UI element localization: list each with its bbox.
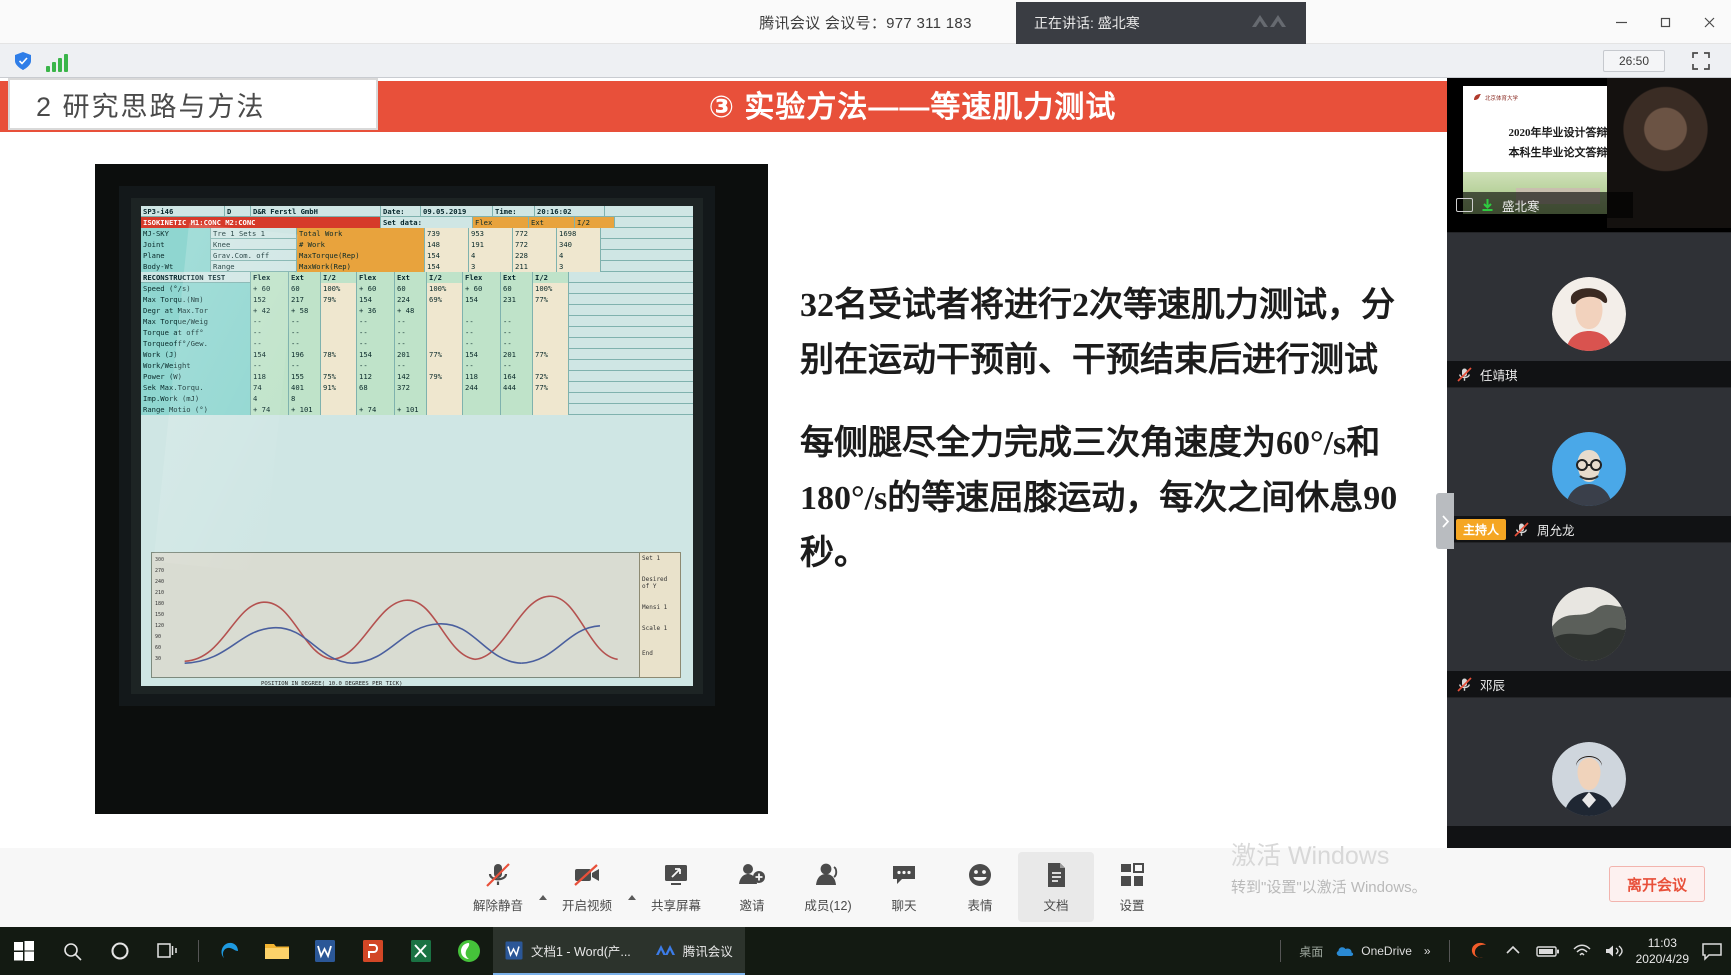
row-label-1: Plane [141,250,211,261]
toolbar-label: 邀请 [739,895,764,914]
date-value: 09.05.2019 [421,206,493,217]
param-row-cell: 8 [289,393,321,404]
result-v1-3: 154 [425,261,469,272]
result-name-2: MaxTorque(Rep) [297,250,425,261]
param-row-cell: 112 [357,371,395,382]
param-row-label: Degr at Max.Tor [141,305,251,316]
result-v3-3: 211 [513,261,557,272]
param-row-cell: 74 [251,382,289,393]
param-row-cell: -- [501,360,533,371]
time-label: Time: [493,206,535,217]
device-maker: D&R Ferstl GmbH [251,206,381,217]
param-row-cell: 60 [289,283,321,294]
participant-name-bar: 主持人 周允龙 [1447,516,1731,542]
taskbar-window-tencent-meeting[interactable]: 腾讯会议 [643,927,745,975]
param-row-cell: + 58 [289,305,321,316]
param-row-cell: 77% [427,349,463,360]
result-v1-2: 154 [425,250,469,261]
param-row-cell: 79% [321,294,357,305]
toolbar-settings-button[interactable]: 设置 [1094,852,1170,922]
windows-start-icon[interactable] [0,927,48,975]
param-row-cell: 118 [463,371,501,382]
tencent-meeting-icon [655,942,675,958]
param-row-cell: + 74 [357,404,395,415]
side-mensi: Mensi 1 [642,604,678,611]
param-row-label: Work/Weight [141,360,251,371]
param-row-cell [533,393,569,404]
toolbar-members-button[interactable]: 成员(12) [790,852,866,922]
param-row-cell [427,360,463,371]
onedrive-icon [1335,944,1355,958]
param-row: Degr at Max.Tor+ 42+ 58+ 36+ 48 [141,305,693,316]
file-explorer-icon[interactable] [253,927,301,975]
param-row-label: Power (W) [141,371,251,382]
param-row-cell: -- [251,327,289,338]
param-row-cell: 100% [321,283,357,294]
param-row-cell: -- [463,338,501,349]
time-value: 20:16:02 [535,206,605,217]
participant-tile-avatar[interactable]: 主持人 周允龙 [1447,388,1731,543]
mic-muted-icon [1456,676,1473,693]
slide-paragraph-1: 32名受试者将进行2次等速肌力测试，分别在运动干预前、干预结束后进行测试 [800,278,1400,388]
shared-slide: 2 研究思路与方法 ③ 实验方法——等速肌力测试 SP3-i46 D D&R F… [0,78,1447,848]
clock-date: 2020/4/29 [1636,951,1689,967]
param-row-cell: 60 [501,283,533,294]
param-row-cell: 154 [463,294,501,305]
param-row-cell: + 101 [395,404,427,415]
param-row-label: Range Motio (°) [141,404,251,415]
param-row-cell: 201 [395,349,427,360]
ph-flex-1: Flex [251,272,289,283]
ph-ext-2: Ext [395,272,427,283]
collapse-panel-button[interactable] [1436,493,1454,549]
onedrive-label: OneDrive [1361,944,1412,958]
system-tray: 桌面 OneDrive » 11:03 2020/4/29 [1274,927,1731,975]
participant-tile-avatar[interactable] [1447,698,1731,853]
clock-time: 11:03 [1636,935,1689,951]
row-label-2: Body-Wt [141,261,211,272]
param-row-cell: 154 [357,349,395,360]
tray-overflow-label[interactable]: » [1424,944,1431,958]
battery-icon[interactable] [1536,944,1560,958]
ph-ext-3: Ext [501,272,533,283]
range-label: Range [211,261,297,272]
monitor-bezel: SP3-i46 D D&R Ferstl GmbH Date: 09.05.20… [119,186,715,706]
toolbar-chat-button[interactable]: 聊天 [866,852,942,922]
result-v2-2: 4 [469,250,513,261]
meeting-window: 腾讯会议 会议号：977 311 183 正在讲话: 盛北寒 [0,0,1731,975]
param-row: Torqueoff°/Gew.------------ [141,338,693,349]
row-label-0: Joint [141,239,211,250]
browser-360-icon[interactable] [445,927,493,975]
param-row-cell [533,327,569,338]
param-row: Work/Weight------------ [141,360,693,371]
param-row-cell: 372 [395,382,427,393]
param-row-cell: 155 [289,371,321,382]
side-scale: Scale 1 [642,625,678,632]
participant-tile-avatar[interactable]: 邓辰 [1447,543,1731,698]
param-row-cell: 4 [251,393,289,404]
param-row-cell: 164 [501,371,533,382]
param-row-cell: 100% [427,283,463,294]
param-row-cell [321,360,357,371]
powerpoint-icon[interactable] [349,927,397,975]
param-row-cell: -- [395,338,427,349]
param-row-cell: + 101 [289,404,321,415]
excel-icon[interactable] [397,927,445,975]
toolbar-label: 表情 [967,895,992,914]
graph-side-panel: Set 1 Desired of Y Mensi 1 Scale 1 End [639,552,681,678]
taskbar-window-label: 文档1 - Word(产... [531,941,631,960]
param-row-cell: 224 [395,294,427,305]
volume-icon[interactable] [1604,943,1624,959]
param-row-cell: 196 [289,349,321,360]
param-row-cell: -- [289,338,321,349]
param-row-cell [533,305,569,316]
signal-bars-icon[interactable] [46,50,68,72]
camera-off-icon [572,860,602,890]
param-row-cell [463,305,501,316]
cortana-icon[interactable] [96,927,144,975]
param-row-label: Max Torqu.(Nm) [141,294,251,305]
toolbar-items: 解除静音 开启视频 共享屏幕 [460,852,1170,922]
shield-icon[interactable] [12,50,34,72]
taskbar-window-word[interactable]: 文档1 - Word(产... [493,927,643,975]
param-row-cell: -- [501,338,533,349]
param-row-cell: -- [501,316,533,327]
meeting-sub-bar: 26:50 [0,44,1731,78]
result-name-0: Total Work [297,228,425,239]
sogou-icon[interactable] [1468,940,1490,962]
document-icon [1041,860,1071,890]
result-v4-1: 340 [557,239,601,250]
param-row-cell: 118 [251,371,289,382]
toolbar-label: 解除静音 [473,895,523,914]
monitor-screen: SP3-i46 D D&R Ferstl GmbH Date: 09.05.20… [141,206,693,686]
ph-ratio-1: I/2 [321,272,357,283]
avatar [1552,432,1626,506]
video-options-caret[interactable] [625,852,638,918]
slide-body-text: 32名受试者将进行2次等速肌力测试，分别在运动干预前、干预结束后进行测试 每侧腿… [800,278,1400,581]
patient-id: MJ-SKY [141,228,211,239]
result-v2-3: 3 [469,261,513,272]
param-row-cell: 75% [321,371,357,382]
param-row-cell: -- [463,360,501,371]
param-row-cell [427,338,463,349]
result-v2-1: 191 [469,239,513,250]
param-row-cell [501,305,533,316]
param-row-cell [533,404,569,415]
result-v1-0: 739 [425,228,469,239]
participant-name-bar: 盛北寒 [1447,192,1633,218]
param-row-cell: -- [289,316,321,327]
param-row-cell [427,393,463,404]
param-row-cell: 77% [533,294,569,305]
param-row-cell: + 74 [251,404,289,415]
meeting-title: 腾讯会议 会议号：977 311 183 [0,0,1731,44]
param-row-cell: -- [395,327,427,338]
toolbar-label: 设置 [1119,895,1144,914]
param-row: Power (W)11815575%11214279%11816472% [141,371,693,382]
graph-curves-icon [152,553,670,677]
param-row-cell: 69% [427,294,463,305]
tray-divider-2 [1449,940,1450,962]
participant-name-bar: 邓辰 [1447,671,1731,697]
ph-ratio-2: I/2 [427,272,463,283]
settings-grid-icon [1117,860,1147,890]
set-data-label: Set data: [381,217,473,228]
device-col-d: D [225,206,251,217]
param-row: Max Torqu.(Nm)15221779%15422469%15423177… [141,294,693,305]
onedrive-item[interactable]: OneDrive [1335,944,1412,958]
minimize-button[interactable] [1599,0,1643,44]
param-row-cell: 154 [463,349,501,360]
param-row-cell: 154 [357,294,395,305]
param-row-cell: 77% [533,349,569,360]
tray-divider-1 [1280,940,1281,962]
param-row-cell [321,316,357,327]
param-row-cell: 78% [321,349,357,360]
param-row-cell: -- [251,360,289,371]
meeting-toolbar: 解除静音 开启视频 共享屏幕 [0,848,1731,927]
slide-paragraph-2: 每侧腿尽全力完成三次角速度为60°/s和180°/s的等速屈膝运动，每次之间休息… [800,416,1400,581]
param-row-label: Speed (°/s) [141,283,251,294]
toolbar-invite-button[interactable]: 邀请 [714,852,790,922]
param-row-cell [427,305,463,316]
host-badge: 主持人 [1456,519,1506,540]
ph-flex-3: Flex [463,272,501,283]
result-name-1: # Work [297,239,425,250]
param-row-cell [427,316,463,327]
param-row-cell: -- [357,338,395,349]
param-row-cell: -- [357,360,395,371]
university-logo-text: 北京体育大学 [1485,94,1518,102]
active-speaker-pill: 正在讲话: 盛北寒 [1016,2,1306,44]
param-row-cell: -- [357,327,395,338]
university-logo-icon: 北京体育大学 [1473,93,1518,102]
download-icon [1480,198,1495,213]
device-id: SP3-i46 [141,206,225,217]
mode-banner: ISOKINETIC M1:CONC M2:CONC [141,217,381,228]
param-row-cell: 100% [533,283,569,294]
ph-flex-2: Flex [357,272,395,283]
param-row: Sek Max.Torqu.7440191%6837224444477% [141,382,693,393]
row-value-0: Knee [211,239,297,250]
param-row-cell: + 48 [395,305,427,316]
param-row: Work (J)15419678%15420177%15420177% [141,349,693,360]
set-col-flex: Flex [473,217,529,228]
avatar [1552,277,1626,351]
side-set: Set 1 [642,555,678,562]
param-row-cell: -- [289,360,321,371]
param-row-cell: + 60 [251,283,289,294]
action-center-icon[interactable] [1701,940,1723,962]
participant-name: 任靖琪 [1480,365,1518,384]
participant-tile-avatar[interactable]: 任靖琪 [1447,233,1731,388]
participant-name: 盛北寒 [1502,196,1540,215]
param-row: Max Torque/Weig------------ [141,316,693,327]
word-icon [505,941,523,960]
date-label: Date: [381,206,421,217]
graph-y-axis-ticks: 300270240210180150120906030 [155,555,164,665]
result-v2-0: 953 [469,228,513,239]
param-row-cell: -- [501,327,533,338]
result-name-3: MaxWork(Rep) [297,261,425,272]
toolbar-start-video-button[interactable]: 开启视频 [549,852,625,922]
graph-x-caption: POSITION IN DEGREE( 10.0 DEGREES PER TIC… [261,681,402,686]
set-col-ratio: I/2 [575,217,615,228]
maximize-button[interactable] [1643,0,1687,44]
taskbar-clock[interactable]: 11:03 2020/4/29 [1636,935,1689,967]
task-view-icon[interactable] [144,927,192,975]
tencent-meeting-logo-icon [1248,11,1292,35]
torque-position-graph: 300270240210180150120906030 [151,552,671,678]
side-end: End [642,650,678,657]
param-row-cell: 60 [395,283,427,294]
word-icon[interactable] [301,927,349,975]
param-row-cell: -- [289,327,321,338]
param-row-cell [427,404,463,415]
screen-share-icon [1456,198,1473,212]
param-rows: Speed (°/s)+ 6060100%+ 6060100%+ 6060100… [141,283,693,415]
result-v4-2: 4 [557,250,601,261]
result-v1-1: 148 [425,239,469,250]
participant-rail[interactable]: 北京体育大学 2020年毕业设计答辩 本科生毕业论文答辩 盛北寒 [1447,78,1731,848]
taskbar-divider [198,940,199,962]
fullscreen-icon[interactable] [1689,49,1713,73]
param-row-cell [357,393,395,404]
param-row: Torque at off°------------ [141,327,693,338]
param-row-cell: + 60 [463,283,501,294]
param-row-label: Torque at off° [141,327,251,338]
param-row-label: Max Torque/Weig [141,316,251,327]
avatar [1552,587,1626,661]
param-row-cell: 152 [251,294,289,305]
param-row-cell: + 60 [357,283,395,294]
taskbar-window-label: 腾讯会议 [683,941,733,960]
active-speaker-label: 正在讲话: 盛北寒 [1034,13,1140,33]
show-desktop-label[interactable]: 桌面 [1299,943,1323,960]
share-screen-icon [661,860,691,890]
result-v4-0: 1698 [557,228,601,239]
participant-tile-video[interactable]: 北京体育大学 2020年毕业设计答辩 本科生毕业论文答辩 盛北寒 [1447,78,1731,233]
set-col-ext: Ext [529,217,575,228]
param-row-cell [321,404,357,415]
param-row-cell [463,393,501,404]
param-row: Speed (°/s)+ 6060100%+ 6060100%+ 6060100… [141,283,693,294]
param-row-cell [427,327,463,338]
mic-muted-icon [1456,366,1473,383]
grav-com: Grav.Com. off [211,250,297,261]
wifi-icon[interactable] [1572,943,1592,959]
result-v3-0: 772 [513,228,557,239]
side-desired: Desired of Y [642,576,678,590]
param-row-cell [501,404,533,415]
param-row-cell: -- [251,338,289,349]
param-row-cell: 201 [501,349,533,360]
watermark-line2: 转到"设置"以激活 Windows。 [1231,876,1561,897]
isokinetic-machine-photo: SP3-i46 D D&R Ferstl GmbH Date: 09.05.20… [95,164,768,814]
param-row-cell [463,404,501,415]
param-row-cell [395,393,427,404]
param-row-label: Work (J) [141,349,251,360]
param-row-cell [321,338,357,349]
emoji-icon [965,860,995,890]
toolbar-unmute-button[interactable]: 解除静音 [460,852,536,922]
close-button[interactable] [1687,0,1731,44]
edge-icon[interactable] [205,927,253,975]
result-v3-1: 772 [513,239,557,250]
toolbar-label: 文档 [1043,895,1068,914]
toolbar-label: 共享屏幕 [651,895,701,914]
ph-ratio-3: I/2 [533,272,569,283]
windows-taskbar: 文档1 - Word(产... 腾讯会议 桌面 OneDrive » 11:03… [0,927,1731,975]
param-row-cell: 401 [289,382,321,393]
mic-options-caret[interactable] [536,852,549,918]
param-row-cell: 91% [321,382,357,393]
toolbar-document-button[interactable]: 文档 [1018,852,1094,922]
title-bar: 腾讯会议 会议号：977 311 183 正在讲话: 盛北寒 [0,0,1731,44]
param-row-cell: 142 [395,371,427,382]
tre-sets: Tre 1 Sets 1 [211,228,297,239]
param-row-cell [533,316,569,327]
invite-icon [737,860,767,890]
toolbar-emoji-button[interactable]: 表情 [942,852,1018,922]
param-row-label: Torqueoff°/Gew. [141,338,251,349]
result-v4-3: 3 [557,261,601,272]
toolbar-label: 聊天 [891,895,916,914]
toolbar-label: 成员(12) [804,895,851,914]
param-row-cell: 444 [501,382,533,393]
param-row-cell: -- [463,316,501,327]
mic-muted-icon [483,860,513,890]
param-row-label: Imp.Work (mJ) [141,393,251,404]
chevron-right-icon [1441,515,1450,528]
participant-name: 周允龙 [1537,520,1575,539]
param-row-cell: -- [395,316,427,327]
mic-muted-icon [1513,521,1530,538]
leave-meeting-button[interactable]: 离开会议 [1609,866,1705,902]
param-row-cell: + 36 [357,305,395,316]
param-row-cell: 231 [501,294,533,305]
param-row-cell: -- [463,327,501,338]
toolbar-label: 开启视频 [562,895,612,914]
ph-ext-1: Ext [289,272,321,283]
slide-section-tag: 2 研究思路与方法 [8,78,378,130]
param-row-cell: 77% [533,382,569,393]
param-row-cell [533,338,569,349]
param-row-label: Sek Max.Torqu. [141,382,251,393]
participant-name-bar: 任靖琪 [1447,361,1731,387]
param-row-cell: 244 [463,382,501,393]
chevron-up-icon[interactable] [1502,940,1524,962]
meeting-timer: 26:50 [1603,50,1665,72]
param-row: Imp.Work (mJ)48 [141,393,693,404]
members-icon [813,860,843,890]
toolbar-share-screen-button[interactable]: 共享屏幕 [638,852,714,922]
param-row-cell: 217 [289,294,321,305]
meeting-stage: 2 研究思路与方法 ③ 实验方法——等速肌力测试 SP3-i46 D D&R F… [0,78,1731,848]
search-icon[interactable] [48,927,96,975]
param-row-cell: -- [357,316,395,327]
param-row-cell: 79% [427,371,463,382]
window-controls [1599,0,1731,44]
param-row-cell [427,382,463,393]
participant-name: 邓辰 [1480,675,1505,694]
param-row-cell [501,393,533,404]
section-title: RECONSTRUCTION TEST [141,272,251,283]
result-v3-2: 228 [513,250,557,261]
